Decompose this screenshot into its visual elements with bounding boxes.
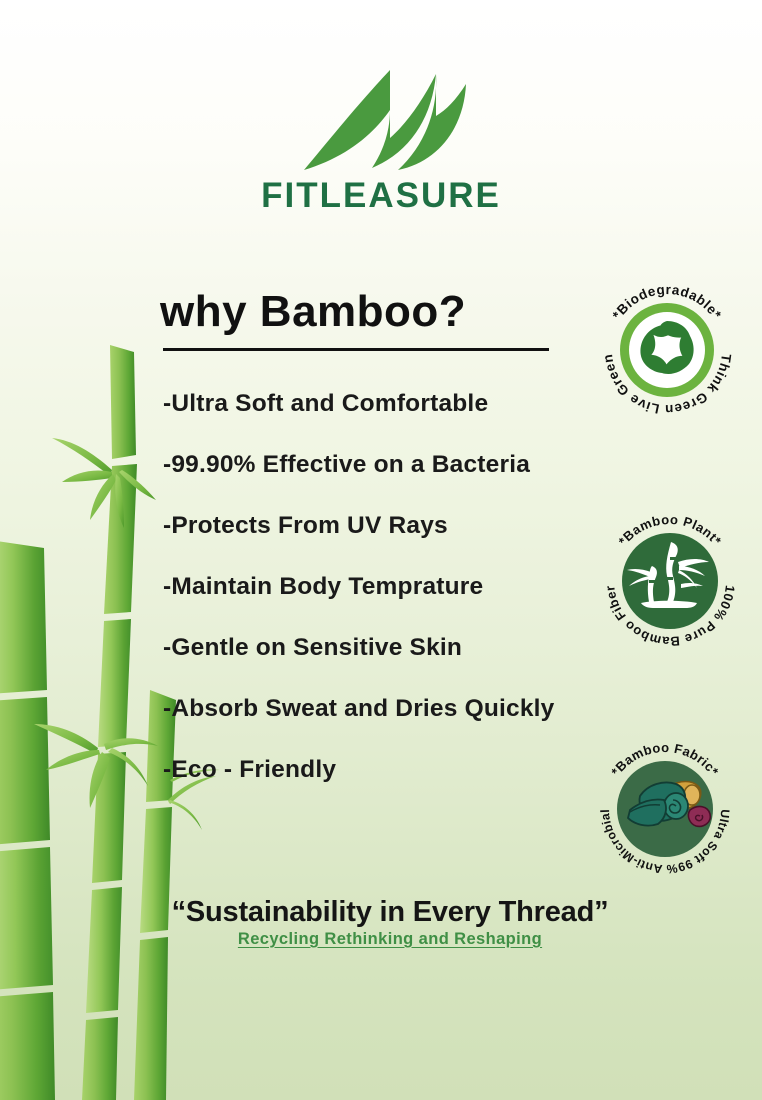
poster-canvas: FITLEASURE why Bamboo? -Ultra Soft and C… (0, 0, 762, 1100)
tagline-main: “Sustainability in Every Thread” (0, 897, 762, 929)
badge-bamboo-plant: *Bamboo Plant* 100% Pure Bamboo Fiber (597, 508, 743, 654)
list-item: -99.90% Effective on a Bacteria (163, 453, 633, 478)
tagline: “Sustainability in Every Thread” Recycli… (0, 897, 762, 949)
brand-wordmark: FITLEASURE (0, 178, 762, 213)
bamboo-leaf-cluster-mid (34, 724, 158, 808)
bamboo-stalk-main (82, 345, 137, 1100)
bamboo-leaf-cluster-upper (52, 438, 156, 528)
list-item: -Absorb Sweat and Dries Quickly (163, 697, 633, 722)
list-item: -Ultra Soft and Comfortable (163, 392, 633, 417)
bamboo-stalk-left (0, 540, 55, 1100)
badge-bamboo-fabric: *Bamboo Fabric* Ultra Soft 99% Anti-Micr… (592, 736, 738, 882)
page-title-underline (163, 348, 549, 351)
list-item: -Gentle on Sensitive Skin (163, 636, 633, 661)
list-item: -Eco - Friendly (163, 758, 633, 783)
list-item: -Protects From UV Rays (163, 514, 633, 539)
badge-biodegradable: *Biodegradable* Think Green Live Green (594, 277, 740, 423)
tagline-sub: Recycling Rethinking and Reshaping (0, 930, 762, 949)
brand-logo: FITLEASURE (0, 66, 762, 213)
page-title: why Bamboo? (160, 289, 466, 335)
bamboo-leaf-swoosh-icon (286, 66, 476, 176)
list-item: -Maintain Body Temprature (163, 575, 633, 600)
benefits-list: -Ultra Soft and Comfortable -99.90% Effe… (163, 392, 633, 819)
